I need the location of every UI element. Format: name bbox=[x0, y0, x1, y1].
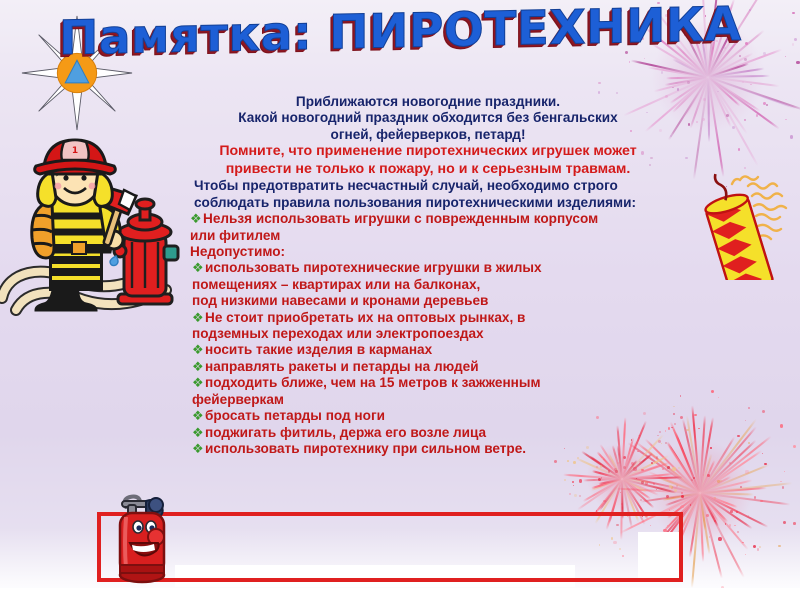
firework-ray bbox=[708, 76, 797, 110]
firework-spark bbox=[687, 81, 690, 84]
firework-spark bbox=[732, 126, 735, 129]
firework-spark bbox=[793, 522, 796, 525]
firework-ray bbox=[708, 76, 800, 112]
warning-paragraph: Помните, что применение пиротехнических … bbox=[176, 143, 680, 178]
firework-spark bbox=[711, 390, 714, 393]
firework-ray bbox=[700, 492, 791, 506]
firework-ray bbox=[707, 76, 780, 130]
firework-ray bbox=[699, 493, 704, 562]
firework-ray bbox=[563, 474, 622, 480]
firework-spark bbox=[729, 462, 731, 464]
firework-spark bbox=[793, 445, 796, 448]
firework-spark bbox=[725, 523, 727, 525]
firework-spark bbox=[753, 545, 756, 548]
firework-spark bbox=[734, 525, 735, 526]
firework-spark bbox=[694, 414, 696, 416]
firework-spark bbox=[596, 466, 598, 468]
diamond-bullet-icon: ❖ bbox=[192, 375, 204, 391]
firework-ray bbox=[699, 493, 707, 531]
firework-spark bbox=[710, 447, 711, 448]
list-item-text: Не стоит приобретать их на оптовых рынка… bbox=[205, 310, 525, 325]
firework-spark bbox=[680, 506, 681, 507]
firework-ray bbox=[699, 440, 756, 494]
list-item-text: фейерверкам bbox=[192, 392, 680, 408]
firework-ray bbox=[577, 478, 622, 510]
firecracker-illustration bbox=[694, 160, 798, 280]
forbidden-heading: Недопустимо: bbox=[190, 244, 680, 260]
firework-spark bbox=[569, 493, 571, 495]
firework-spark bbox=[564, 479, 566, 481]
firework-ray bbox=[622, 464, 662, 480]
firework-ray bbox=[588, 455, 622, 480]
list-item: ❖бросать петарды под ноги bbox=[192, 408, 680, 424]
firework-spark bbox=[681, 495, 684, 498]
firework-ray bbox=[653, 76, 708, 92]
firework-ray bbox=[689, 77, 709, 129]
firework-ray bbox=[700, 464, 770, 495]
firework-spark bbox=[667, 466, 670, 469]
list-item-text: направлять ракеты и петарды на людей bbox=[205, 359, 479, 374]
firework-spark bbox=[707, 474, 710, 477]
firework-spark bbox=[651, 462, 653, 464]
firework-spark bbox=[745, 470, 748, 473]
firework-ray bbox=[707, 77, 759, 167]
firework-ray bbox=[707, 77, 732, 128]
firework-spark bbox=[669, 485, 671, 487]
firework-spark bbox=[780, 481, 781, 482]
firework-spark bbox=[744, 119, 745, 120]
firework-spark bbox=[742, 542, 744, 544]
intro-line-1: Приближаются новогодние праздники. bbox=[176, 94, 680, 110]
firework-spark bbox=[672, 467, 675, 470]
firework-spark bbox=[656, 489, 657, 490]
firework-ray bbox=[708, 75, 770, 78]
firework-spark bbox=[698, 428, 700, 430]
firework-spark bbox=[572, 481, 574, 483]
firework-spark bbox=[719, 480, 721, 482]
page-title-container: Памятка: ПИРОТЕХНИКА bbox=[0, 8, 800, 55]
warning-line-2: привести не только к пожару, но и к серь… bbox=[176, 161, 680, 179]
firework-spark bbox=[573, 485, 574, 486]
fire-extinguisher-mascot bbox=[104, 487, 176, 587]
firework-spark bbox=[706, 514, 709, 517]
firework-spark bbox=[637, 489, 639, 491]
firework-spark bbox=[579, 495, 581, 497]
firework-spark bbox=[608, 470, 610, 472]
firework-spark bbox=[744, 58, 747, 61]
firework-ray bbox=[622, 478, 659, 496]
firework-spark bbox=[760, 500, 763, 503]
firework-ray bbox=[665, 76, 708, 86]
firework-ray bbox=[707, 77, 710, 118]
firework-spark bbox=[686, 429, 688, 431]
firework-ray bbox=[700, 492, 738, 508]
list-item-text: бросать петарды под ноги bbox=[205, 408, 385, 423]
firework-spark bbox=[617, 462, 619, 464]
firework-ray bbox=[699, 426, 757, 494]
firework-ray bbox=[672, 58, 709, 79]
list-item-text: использовать пиротехнические игрушки в ж… bbox=[205, 260, 542, 275]
firework-ray bbox=[699, 476, 731, 494]
rules-intro-paragraph: Чтобы предотвратить несчастный случай, н… bbox=[194, 178, 680, 211]
firework-spark bbox=[766, 104, 768, 106]
warning-line-1: Помните, что применение пиротехнических … bbox=[176, 143, 680, 161]
first-rule-line-2: или фитилем bbox=[190, 228, 680, 244]
firework-spark bbox=[757, 548, 759, 550]
firework-ray bbox=[665, 492, 701, 506]
firework-spark bbox=[762, 453, 763, 454]
firework-spark bbox=[620, 492, 621, 493]
list-item-text: использовать пиротехнику при сильном вет… bbox=[205, 441, 526, 456]
firework-ray bbox=[699, 454, 713, 494]
first-rule-line-1: ❖Нельзя использовать игрушки с поврежден… bbox=[190, 211, 680, 227]
firework-spark bbox=[600, 465, 603, 468]
firework-spark bbox=[636, 478, 638, 480]
firework-ray bbox=[622, 476, 683, 480]
firework-spark bbox=[693, 477, 695, 479]
firework-ray bbox=[699, 493, 711, 554]
firework-ray bbox=[686, 415, 701, 494]
firework-spark bbox=[759, 546, 761, 548]
firework-ray bbox=[699, 460, 715, 493]
firework-spark bbox=[782, 486, 785, 489]
svg-text:1: 1 bbox=[72, 146, 78, 156]
firework-ray bbox=[699, 493, 719, 523]
intro-paragraph: Приближаются новогодние праздники. Какой… bbox=[176, 94, 680, 143]
firework-spark bbox=[577, 457, 578, 458]
bottom-content-box[interactable] bbox=[97, 512, 683, 582]
firework-spark bbox=[696, 121, 698, 123]
firework-ray bbox=[699, 492, 728, 522]
diamond-bullet-icon: ❖ bbox=[192, 425, 204, 441]
firework-ray bbox=[648, 471, 701, 494]
firework-spark bbox=[780, 424, 783, 427]
firework-ray bbox=[657, 476, 700, 494]
firework-ray bbox=[700, 487, 767, 494]
firework-ray bbox=[622, 462, 670, 480]
firework-spark bbox=[714, 520, 716, 522]
first-rule-text-1: Нельзя использовать игрушки с поврежденн… bbox=[203, 211, 598, 226]
firework-ray bbox=[699, 450, 762, 494]
list-item: ❖использовать пиротехнические игрушки в … bbox=[192, 260, 680, 309]
firework-spark bbox=[718, 537, 721, 540]
firework-spark bbox=[633, 467, 636, 470]
firework-spark bbox=[629, 61, 631, 63]
firework-spark bbox=[567, 460, 569, 462]
firework-spark bbox=[748, 442, 750, 444]
firework-ray bbox=[700, 482, 793, 494]
firework-spark bbox=[605, 474, 606, 475]
firework-spark bbox=[639, 461, 641, 463]
firework-ray bbox=[621, 478, 651, 499]
firework-spark bbox=[669, 509, 670, 510]
firework-ray bbox=[707, 77, 710, 142]
firework-ray bbox=[683, 77, 709, 118]
firework-spark bbox=[688, 123, 691, 126]
firework-spark bbox=[763, 102, 766, 105]
firework-spark bbox=[674, 489, 677, 492]
firework-spark bbox=[728, 511, 729, 512]
firework-spark bbox=[738, 148, 741, 151]
firework-spark bbox=[615, 470, 618, 473]
firework-spark bbox=[672, 87, 673, 88]
firework-ray bbox=[689, 493, 701, 558]
white-patch-bottom-bar bbox=[0, 588, 800, 600]
firework-ray bbox=[583, 478, 622, 481]
list-item-text: под низкими навесами и кронами деревьев bbox=[192, 293, 680, 309]
firework-ray bbox=[621, 478, 655, 509]
list-item-text: поджигать фитиль, держа его возле лица bbox=[205, 425, 486, 440]
firework-spark bbox=[740, 486, 742, 488]
list-item-text: носить такие изделия в карманах bbox=[205, 342, 432, 357]
firework-ray bbox=[707, 76, 760, 112]
firework-ray bbox=[591, 478, 622, 489]
firework-ray bbox=[621, 460, 638, 480]
diamond-bullet-icon: ❖ bbox=[190, 211, 202, 227]
slide-canvas: Памятка: ПИРОТЕХНИКА bbox=[0, 0, 800, 600]
firework-spark bbox=[598, 478, 601, 481]
firework-ray bbox=[699, 436, 735, 493]
firework-spark bbox=[640, 499, 642, 501]
firework-spark bbox=[703, 474, 705, 476]
firework-spark bbox=[737, 531, 739, 533]
firework-spark bbox=[554, 460, 557, 463]
firework-spark bbox=[730, 510, 733, 513]
list-item: ❖Не стоит приобретать их на оптовых рынк… bbox=[192, 310, 680, 343]
firework-spark bbox=[702, 118, 705, 121]
firework-spark bbox=[745, 420, 746, 421]
list-item: ❖подходить ближе, чем на 15 метров к заж… bbox=[192, 375, 680, 408]
firework-ray bbox=[691, 493, 701, 587]
firework-spark bbox=[662, 468, 664, 470]
diamond-bullet-icon: ❖ bbox=[192, 408, 204, 424]
firework-ray bbox=[583, 478, 623, 502]
firework-ray bbox=[682, 419, 701, 493]
firework-ray bbox=[591, 478, 623, 491]
diamond-bullet-icon: ❖ bbox=[192, 441, 204, 457]
firework-ray bbox=[631, 59, 708, 78]
firework-spark bbox=[623, 466, 626, 469]
firework-spark bbox=[783, 521, 786, 524]
firework-spark bbox=[677, 88, 680, 91]
intro-line-3: огней, фейерверков, петард! bbox=[176, 127, 680, 143]
list-item-text: подходить ближе, чем на 15 метров к зажж… bbox=[205, 375, 541, 390]
firework-ray bbox=[666, 76, 708, 79]
forbidden-list: ❖использовать пиротехнические игрушки в … bbox=[192, 260, 680, 457]
firework-spark bbox=[737, 435, 740, 438]
firework-spark bbox=[691, 479, 693, 481]
firework-ray bbox=[648, 66, 708, 78]
diamond-bullet-icon: ❖ bbox=[192, 260, 204, 276]
first-rule: ❖Нельзя использовать игрушки с поврежден… bbox=[190, 211, 680, 244]
firework-spark bbox=[621, 503, 623, 505]
firefighter-child-illustration: 1 bbox=[0, 138, 184, 316]
firework-ray bbox=[662, 492, 700, 501]
firework-spark bbox=[709, 536, 711, 538]
firework-ray bbox=[699, 492, 753, 530]
page-title: Памятка: ПИРОТЕХНИКА bbox=[59, 1, 742, 62]
firework-ray bbox=[615, 487, 700, 494]
list-item: ❖использовать пиротехнику при сильном ве… bbox=[192, 441, 680, 457]
firework-ray bbox=[699, 493, 723, 579]
firework-spark bbox=[641, 481, 644, 484]
firework-spark bbox=[579, 479, 582, 482]
firework-spark bbox=[742, 81, 744, 83]
firework-ray bbox=[628, 476, 700, 494]
firework-ray bbox=[700, 492, 769, 528]
firework-spark bbox=[631, 462, 634, 465]
firework-ray bbox=[699, 493, 719, 527]
firework-spark bbox=[790, 135, 793, 138]
firework-ray bbox=[700, 479, 753, 494]
firework-spark bbox=[729, 524, 732, 527]
firework-spark bbox=[718, 397, 719, 398]
firework-ray bbox=[622, 478, 677, 494]
firework-ray bbox=[598, 478, 622, 485]
firework-spark bbox=[750, 84, 752, 86]
firework-spark bbox=[785, 119, 787, 121]
firework-spark bbox=[726, 114, 729, 117]
firework-spark bbox=[676, 485, 678, 487]
firework-ray bbox=[708, 68, 764, 79]
firework-ray bbox=[699, 415, 706, 493]
firework-ray bbox=[699, 493, 745, 579]
diamond-bullet-icon: ❖ bbox=[192, 310, 204, 326]
firework-spark bbox=[714, 497, 715, 498]
firework-spark bbox=[681, 505, 684, 508]
firework-spark bbox=[645, 481, 648, 484]
firework-ray bbox=[699, 417, 714, 493]
firework-ray bbox=[699, 436, 771, 494]
firework-spark bbox=[573, 461, 576, 464]
firework-ray bbox=[622, 478, 650, 483]
firework-spark bbox=[603, 500, 605, 502]
firework-ray bbox=[593, 478, 623, 515]
diamond-bullet-icon: ❖ bbox=[192, 359, 204, 375]
firework-spark bbox=[641, 469, 643, 471]
firework-ray bbox=[691, 405, 701, 493]
firework-spark bbox=[756, 114, 759, 117]
firework-spark bbox=[754, 496, 757, 499]
firework-spark bbox=[748, 515, 750, 517]
diamond-bullet-icon: ❖ bbox=[192, 342, 204, 358]
firework-ray bbox=[576, 457, 623, 479]
rules-intro-line-1: Чтобы предотвратить несчастный случай, н… bbox=[194, 178, 680, 194]
firework-spark bbox=[678, 467, 680, 469]
list-item: ❖направлять ракеты и петарды на людей bbox=[192, 359, 680, 375]
firework-ray bbox=[707, 52, 754, 78]
firework-spark bbox=[717, 480, 720, 483]
firework-ray bbox=[707, 77, 748, 135]
firework-spark bbox=[681, 492, 683, 494]
firework-ray bbox=[700, 492, 746, 516]
firework-spark bbox=[796, 61, 799, 64]
firework-spark bbox=[736, 511, 738, 513]
list-item: ❖носить такие изделия в карманах bbox=[192, 342, 680, 358]
firework-ray bbox=[622, 473, 674, 480]
firework-spark bbox=[690, 504, 692, 506]
firework-ray bbox=[640, 492, 700, 503]
firework-spark bbox=[680, 416, 683, 419]
firework-spark bbox=[784, 471, 785, 472]
list-item-text: помещениях – квартирах или на балконах, bbox=[192, 277, 680, 293]
list-item: ❖поджигать фитиль, держа его возле лица bbox=[192, 425, 680, 441]
firework-spark bbox=[644, 58, 646, 60]
firework-spark bbox=[661, 71, 663, 73]
firework-spark bbox=[762, 410, 765, 413]
firework-spark bbox=[574, 494, 577, 497]
firework-ray bbox=[708, 76, 780, 88]
firework-ray bbox=[708, 63, 750, 79]
memo-body: Приближаются новогодние праздники. Какой… bbox=[176, 94, 680, 457]
list-item-text: подземных переходах или электропоездах bbox=[192, 326, 680, 342]
firework-ray bbox=[700, 492, 754, 496]
firework-spark bbox=[703, 98, 706, 101]
firework-spark bbox=[764, 463, 766, 465]
firework-spark bbox=[745, 554, 746, 555]
firework-spark bbox=[653, 483, 656, 486]
firework-spark bbox=[671, 486, 673, 488]
firework-ray bbox=[598, 478, 622, 511]
firework-spark bbox=[717, 91, 719, 93]
firework-spark bbox=[666, 495, 669, 498]
firework-ray bbox=[699, 492, 748, 550]
firework-spark bbox=[748, 407, 750, 409]
firework-spark bbox=[601, 477, 603, 479]
firework-ray bbox=[592, 470, 622, 480]
intro-line-2: Какой новогодний праздник обходится без … bbox=[176, 110, 680, 126]
firework-ray bbox=[699, 418, 757, 494]
firework-spark bbox=[614, 468, 617, 471]
firework-ray bbox=[641, 484, 700, 495]
firework-ray bbox=[622, 478, 648, 493]
firework-spark bbox=[778, 545, 780, 547]
firework-spark bbox=[598, 82, 601, 85]
firework-spark bbox=[785, 56, 786, 57]
rules-intro-line-2: соблюдать правила пользования пиротехнич… bbox=[194, 195, 680, 211]
firework-ray bbox=[707, 76, 741, 107]
firework-spark bbox=[685, 157, 688, 160]
firework-spark bbox=[602, 458, 603, 459]
firework-ray bbox=[622, 455, 669, 480]
